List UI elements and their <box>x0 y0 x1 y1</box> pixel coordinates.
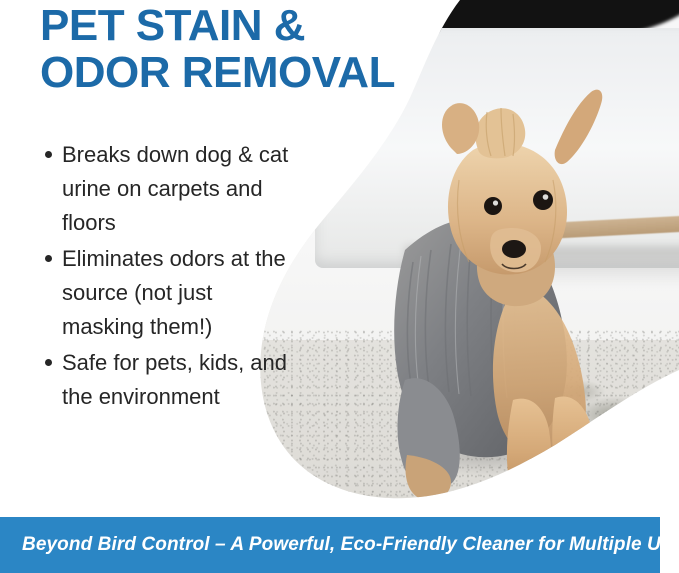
list-item-label: Safe for pets, kids, and the environment <box>62 350 287 409</box>
benefit-list: Breaks down dog & cat urine on carpets a… <box>40 138 290 416</box>
list-item: Safe for pets, kids, and the environment <box>40 346 290 414</box>
bullet-dot-icon <box>45 255 52 262</box>
headline-line-1: PET STAIN & <box>40 2 470 49</box>
product-feature-image: PET STAIN & ODOR REMOVAL Breaks down dog… <box>0 0 679 573</box>
list-item-label: Breaks down dog & cat urine on carpets a… <box>62 142 288 235</box>
tagline-text: Beyond Bird Control – A Powerful, Eco-Fr… <box>22 517 679 573</box>
headline: PET STAIN & ODOR REMOVAL <box>40 2 470 96</box>
bullet-dot-icon <box>45 359 52 366</box>
headline-line-2: ODOR REMOVAL <box>40 49 470 96</box>
list-item: Breaks down dog & cat urine on carpets a… <box>40 138 290 240</box>
list-item-label: Eliminates odors at the source (not just… <box>62 246 286 339</box>
bullet-dot-icon <box>45 151 52 158</box>
list-item: Eliminates odors at the source (not just… <box>40 242 290 344</box>
